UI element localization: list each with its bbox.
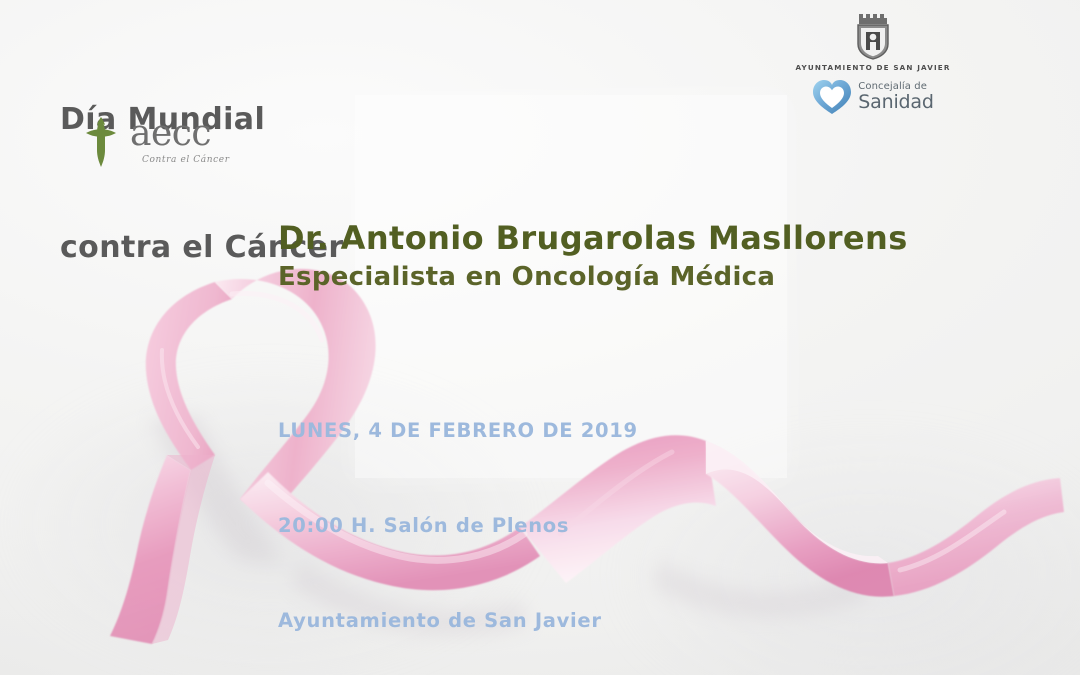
background-vignette bbox=[0, 0, 1080, 675]
poster-canvas: Día Mundial contra el Cáncer aecc Contra… bbox=[0, 0, 1080, 675]
